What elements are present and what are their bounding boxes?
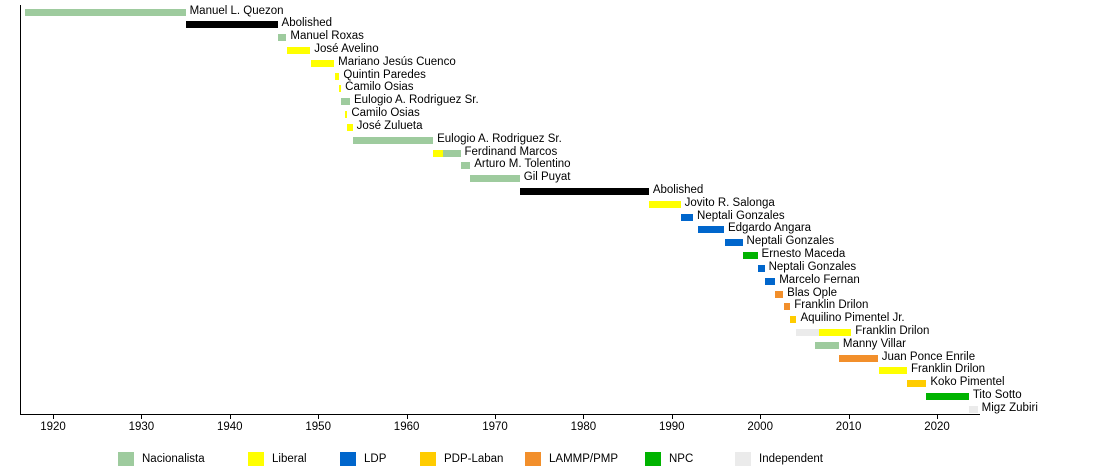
timeline-bar-segment[interactable] xyxy=(879,367,907,374)
legend-label: PDP-Laban xyxy=(444,453,503,465)
legend-item-nacionalista[interactable]: Nacionalista xyxy=(118,448,205,470)
timeline-row: Gil Puyat xyxy=(0,172,1100,185)
timeline-row-label: Juan Ponce Enrile xyxy=(882,351,975,364)
timeline-row-label: Mariano Jesús Cuenco xyxy=(338,56,456,69)
timeline-row-label: Manuel Roxas xyxy=(290,30,364,43)
timeline-row-label: Abolished xyxy=(653,184,704,197)
x-axis-tick-label: 1920 xyxy=(40,421,66,433)
x-axis-tick-label: 1980 xyxy=(571,421,597,433)
timeline-bar-segment[interactable] xyxy=(926,393,968,400)
timeline-row: Manuel Roxas xyxy=(0,31,1100,44)
legend-swatch-icon xyxy=(735,452,751,466)
timeline-row-label: José Zulueta xyxy=(357,120,423,133)
x-axis-tick xyxy=(318,414,319,419)
timeline-row: Aquilino Pimentel Jr. xyxy=(0,313,1100,326)
timeline-bar-segment[interactable] xyxy=(341,98,350,105)
legend-swatch-icon xyxy=(340,452,356,466)
x-axis-tick xyxy=(760,414,761,419)
timeline-row: Jovito R. Salonga xyxy=(0,198,1100,211)
timeline-row: Camilo Osias xyxy=(0,108,1100,121)
senate-presidents-timeline-chart: Manuel L. QuezonAbolishedManuel RoxasJos… xyxy=(0,0,1100,473)
chart-plot-area: Manuel L. QuezonAbolishedManuel RoxasJos… xyxy=(0,0,1100,420)
legend-label: LDP xyxy=(364,453,386,465)
timeline-bar-segment[interactable] xyxy=(649,201,681,208)
timeline-bar-segment[interactable] xyxy=(775,291,783,298)
timeline-bar-segment[interactable] xyxy=(335,73,339,80)
timeline-bar-segment[interactable] xyxy=(347,124,352,131)
timeline-bar-segment[interactable] xyxy=(278,34,287,41)
timeline-bar-segment[interactable] xyxy=(743,252,758,259)
timeline-bar-segment[interactable] xyxy=(796,329,819,336)
x-axis-tick xyxy=(937,414,938,419)
x-axis-tick xyxy=(141,414,142,419)
timeline-row-label: Eulogio A. Rodriguez Sr. xyxy=(437,133,562,146)
legend-label: Liberal xyxy=(272,453,307,465)
x-axis-tick-label: 1930 xyxy=(129,421,155,433)
timeline-row: Quintin Paredes xyxy=(0,70,1100,83)
chart-legend: NacionalistaLiberalLDPPDP-LabanLAMMP/PMP… xyxy=(0,448,1100,473)
legend-swatch-icon xyxy=(525,452,541,466)
timeline-row-label: Camilo Osias xyxy=(351,107,419,120)
timeline-bar-segment[interactable] xyxy=(758,265,764,272)
timeline-row-label: Koko Pimentel xyxy=(930,376,1004,389)
timeline-bar-segment[interactable] xyxy=(725,239,743,246)
timeline-row: Koko Pimentel xyxy=(0,377,1100,390)
timeline-bar-segment[interactable] xyxy=(345,111,348,118)
timeline-row: Abolished xyxy=(0,185,1100,198)
x-axis-tick-label: 2000 xyxy=(747,421,773,433)
timeline-row: Abolished xyxy=(0,18,1100,31)
timeline-row: Tito Sotto xyxy=(0,390,1100,403)
timeline-row-label: Aquilino Pimentel Jr. xyxy=(800,312,904,325)
timeline-bar-segment[interactable] xyxy=(969,406,978,413)
timeline-bar-segment[interactable] xyxy=(839,355,878,362)
timeline-row-label: Edgardo Angara xyxy=(728,222,811,235)
legend-item-ldp[interactable]: LDP xyxy=(340,448,386,470)
x-axis-tick xyxy=(495,414,496,419)
legend-item-pdp-laban[interactable]: PDP-Laban xyxy=(420,448,503,470)
timeline-bar-segment[interactable] xyxy=(907,380,926,387)
timeline-bar-segment[interactable] xyxy=(186,21,278,28)
x-axis-tick-label: 2020 xyxy=(924,421,950,433)
timeline-row-label: Neptali Gonzales xyxy=(697,210,785,223)
timeline-bar-segment[interactable] xyxy=(784,303,790,310)
timeline-row-label: Blas Ople xyxy=(787,287,837,300)
timeline-row: Blas Ople xyxy=(0,288,1100,301)
legend-item-independent[interactable]: Independent xyxy=(735,448,823,470)
x-axis-tick-label: 1990 xyxy=(659,421,685,433)
legend-item-liberal[interactable]: Liberal xyxy=(248,448,307,470)
timeline-row-label: Franklin Drilon xyxy=(855,325,929,338)
x-axis-tick xyxy=(672,414,673,419)
timeline-bar-segment[interactable] xyxy=(353,137,433,144)
timeline-row: Neptali Gonzales xyxy=(0,262,1100,275)
timeline-row: Migz Zubiri xyxy=(0,403,1100,416)
timeline-row: Manuel L. Quezon xyxy=(0,6,1100,19)
x-axis-tick xyxy=(407,414,408,419)
timeline-bar-segment[interactable] xyxy=(815,342,839,349)
timeline-row: Marcelo Fernan xyxy=(0,275,1100,288)
timeline-bar-segment[interactable] xyxy=(470,175,520,182)
timeline-row-label: Neptali Gonzales xyxy=(747,235,835,248)
legend-swatch-icon xyxy=(118,452,134,466)
x-axis-tick xyxy=(53,414,54,419)
timeline-row: Franklin Drilon xyxy=(0,300,1100,313)
legend-swatch-icon xyxy=(420,452,436,466)
timeline-row: Neptali Gonzales xyxy=(0,211,1100,224)
timeline-row-label: Neptali Gonzales xyxy=(769,261,857,274)
timeline-row-label: Manny Villar xyxy=(843,338,906,351)
timeline-bar-segment[interactable] xyxy=(25,9,186,16)
timeline-row-label: Tito Sotto xyxy=(973,389,1022,402)
timeline-row: Ernesto Maceda xyxy=(0,249,1100,262)
timeline-bar-segment[interactable] xyxy=(287,47,310,54)
timeline-row-label: José Avelino xyxy=(314,43,378,56)
timeline-row-label: Arturo M. Tolentino xyxy=(474,158,570,171)
x-axis-tick-label: 2010 xyxy=(836,421,862,433)
timeline-row: Franklin Drilon xyxy=(0,326,1100,339)
x-axis-tick-label: 1970 xyxy=(482,421,508,433)
timeline-row-label: Eulogio A. Rodriguez Sr. xyxy=(354,94,479,107)
legend-swatch-icon xyxy=(645,452,661,466)
timeline-row-label: Jovito R. Salonga xyxy=(685,197,775,210)
legend-item-npc[interactable]: NPC xyxy=(645,448,693,470)
timeline-bar-segment[interactable] xyxy=(311,60,334,67)
timeline-bar-segment[interactable] xyxy=(819,329,851,336)
timeline-row-label: Gil Puyat xyxy=(524,171,571,184)
timeline-row: Camilo Osias xyxy=(0,82,1100,95)
timeline-row-label: Camilo Osias xyxy=(345,81,413,94)
x-axis-tick-label: 1940 xyxy=(217,421,243,433)
timeline-bar-segment[interactable] xyxy=(681,214,693,221)
legend-item-lammp-pmp[interactable]: LAMMP/PMP xyxy=(525,448,618,470)
timeline-row: Edgardo Angara xyxy=(0,223,1100,236)
x-axis-tick xyxy=(849,414,850,419)
x-axis-tick xyxy=(230,414,231,419)
timeline-bar-segment[interactable] xyxy=(790,316,796,323)
legend-label: LAMMP/PMP xyxy=(549,453,618,465)
timeline-row: José Avelino xyxy=(0,44,1100,57)
legend-label: Independent xyxy=(759,453,823,465)
legend-label: NPC xyxy=(669,453,693,465)
x-axis-tick-label: 1960 xyxy=(394,421,420,433)
timeline-bar-segment[interactable] xyxy=(433,150,443,157)
timeline-row-label: Marcelo Fernan xyxy=(779,274,860,287)
timeline-bar-segment[interactable] xyxy=(698,226,724,233)
timeline-row-label: Migz Zubiri xyxy=(982,402,1038,415)
timeline-row-label: Manuel L. Quezon xyxy=(190,5,284,18)
timeline-bar-segment[interactable] xyxy=(765,278,776,285)
timeline-row-label: Ernesto Maceda xyxy=(762,248,846,261)
legend-label: Nacionalista xyxy=(142,453,205,465)
timeline-row-label: Franklin Drilon xyxy=(911,363,985,376)
x-axis-tick xyxy=(583,414,584,419)
timeline-row-label: Franklin Drilon xyxy=(794,299,868,312)
legend-swatch-icon xyxy=(248,452,264,466)
timeline-row-label: Abolished xyxy=(282,17,333,30)
timeline-bar-segment[interactable] xyxy=(461,162,471,169)
timeline-bar-segment[interactable] xyxy=(520,188,649,195)
timeline-bar-segment[interactable] xyxy=(443,150,461,157)
timeline-row: Neptali Gonzales xyxy=(0,236,1100,249)
timeline-row: Eulogio A. Rodriguez Sr. xyxy=(0,95,1100,108)
timeline-row-label: Ferdinand Marcos xyxy=(465,146,558,159)
timeline-bar-segment[interactable] xyxy=(339,85,341,92)
timeline-row: Mariano Jesús Cuenco xyxy=(0,57,1100,70)
x-axis-tick-label: 1950 xyxy=(305,421,331,433)
timeline-row-label: Quintin Paredes xyxy=(343,69,425,82)
